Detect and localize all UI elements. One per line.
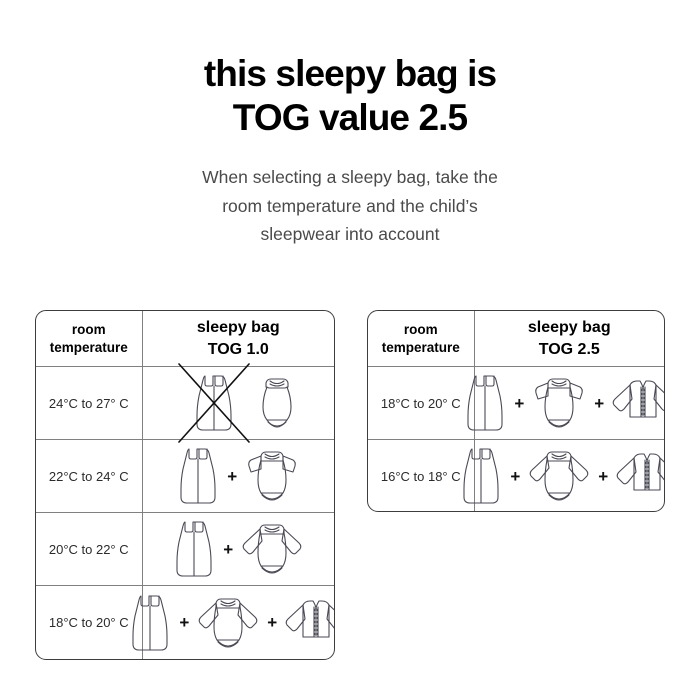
sleepwear-combination-cell: ++ bbox=[474, 440, 664, 513]
plus-separator: + bbox=[513, 395, 525, 412]
sleepwear-combination-cell: ++ bbox=[142, 586, 334, 659]
plus-separator: + bbox=[222, 541, 234, 558]
header-sleepy-bag-line-2: TOG 1.0 bbox=[143, 339, 335, 360]
table-row: 22°C to 24° C+ bbox=[36, 440, 334, 513]
garment-icon-row: ++ bbox=[475, 367, 665, 439]
header-room-temperature-line-1: room bbox=[36, 321, 142, 339]
table-header-row: roomtemperaturesleepy bagTOG 2.5 bbox=[368, 311, 664, 367]
header-room-temperature: roomtemperature bbox=[36, 311, 142, 367]
page-title-line-2: TOG value 2.5 bbox=[0, 96, 700, 140]
bodysuit-sleeveless-icon bbox=[255, 375, 299, 431]
header-room-temperature-line-1: room bbox=[368, 321, 474, 339]
page-subtitle-line-1: When selecting a sleepy bag, take the bbox=[0, 163, 700, 191]
table-row: 18°C to 20° C++ bbox=[368, 367, 664, 440]
header-sleepy-bag-line-1: sleepy bag bbox=[143, 317, 335, 338]
plus-separator: + bbox=[593, 395, 605, 412]
temperature-range-cell: 18°C to 20° C bbox=[36, 586, 142, 659]
cardigan-icon bbox=[610, 377, 665, 429]
garment-icon-row: ++ bbox=[475, 440, 665, 512]
temperature-range-cell: 24°C to 27° C bbox=[36, 367, 142, 440]
header-sleepy-bag-line-2: TOG 2.5 bbox=[475, 339, 665, 360]
temperature-range-cell: 18°C to 20° C bbox=[368, 367, 474, 440]
tog-1.0-table: roomtemperaturesleepy bagTOG 1.024°C to … bbox=[35, 310, 335, 660]
plus-separator: + bbox=[226, 468, 238, 485]
table-row: 16°C to 18° C++ bbox=[368, 440, 664, 513]
garment-icon-row: + bbox=[143, 440, 335, 512]
table-row: 24°C to 27° C bbox=[36, 367, 334, 440]
garment-icon-row: ++ bbox=[143, 586, 335, 659]
plus-separator: + bbox=[597, 468, 609, 485]
sleepwear-combination-cell bbox=[142, 367, 334, 440]
bodysuit-short-sleeve-icon bbox=[530, 375, 588, 431]
bodysuit-long-sleeve-icon bbox=[239, 521, 305, 577]
header-sleepy-bag-line-1: sleepy bag bbox=[475, 317, 665, 338]
page-subtitle: When selecting a sleepy bag, take the ro… bbox=[0, 139, 700, 248]
header-room-temperature: roomtemperature bbox=[368, 311, 474, 367]
table-row: 20°C to 22° C+ bbox=[36, 513, 334, 586]
header-room-temperature-line-2: temperature bbox=[368, 339, 474, 357]
temperature-range-cell: 22°C to 24° C bbox=[36, 440, 142, 513]
sleepwear-combination-cell: ++ bbox=[474, 367, 664, 440]
bodysuit-long-sleeve-icon bbox=[195, 595, 261, 651]
page-subtitle-line-2: room temperature and the child’s bbox=[0, 192, 700, 220]
page-title: this sleepy bag is TOG value 2.5 bbox=[0, 0, 700, 139]
page-subtitle-line-3: sleepwear into account bbox=[0, 220, 700, 248]
header-sleepy-bag-tog: sleepy bagTOG 1.0 bbox=[142, 311, 334, 367]
bodysuit-long-sleeve-icon bbox=[526, 448, 592, 504]
sleepy-bag-icon bbox=[462, 372, 508, 434]
header-sleepy-bag-tog: sleepy bagTOG 2.5 bbox=[474, 311, 664, 367]
sleepwear-combination-cell: + bbox=[142, 440, 334, 513]
cardigan-icon bbox=[283, 597, 335, 649]
plus-separator: + bbox=[509, 468, 521, 485]
garment-icon-row: + bbox=[143, 513, 335, 585]
table-header-row: roomtemperaturesleepy bagTOG 1.0 bbox=[36, 311, 334, 367]
temperature-range-cell: 20°C to 22° C bbox=[36, 513, 142, 586]
sleepy-bag-icon bbox=[175, 445, 221, 507]
sleepy-bag-icon bbox=[178, 372, 250, 434]
sleepy-bag-icon bbox=[171, 518, 217, 580]
tog-2.5-table: roomtemperaturesleepy bagTOG 2.518°C to … bbox=[367, 310, 665, 512]
sleepwear-combination-cell: + bbox=[142, 513, 334, 586]
plus-separator: + bbox=[266, 614, 278, 631]
sleepy-bag-icon bbox=[127, 592, 173, 654]
table-row: 18°C to 20° C++ bbox=[36, 586, 334, 659]
plus-separator: + bbox=[178, 614, 190, 631]
tog-tables-area: roomtemperaturesleepy bagTOG 1.024°C to … bbox=[0, 310, 700, 670]
header-room-temperature-line-2: temperature bbox=[36, 339, 142, 357]
bodysuit-short-sleeve-icon bbox=[243, 448, 301, 504]
cardigan-icon bbox=[614, 450, 665, 502]
page-title-line-1: this sleepy bag is bbox=[0, 52, 700, 96]
sleepy-bag-icon bbox=[458, 445, 504, 507]
garment-icon-row bbox=[143, 367, 335, 439]
